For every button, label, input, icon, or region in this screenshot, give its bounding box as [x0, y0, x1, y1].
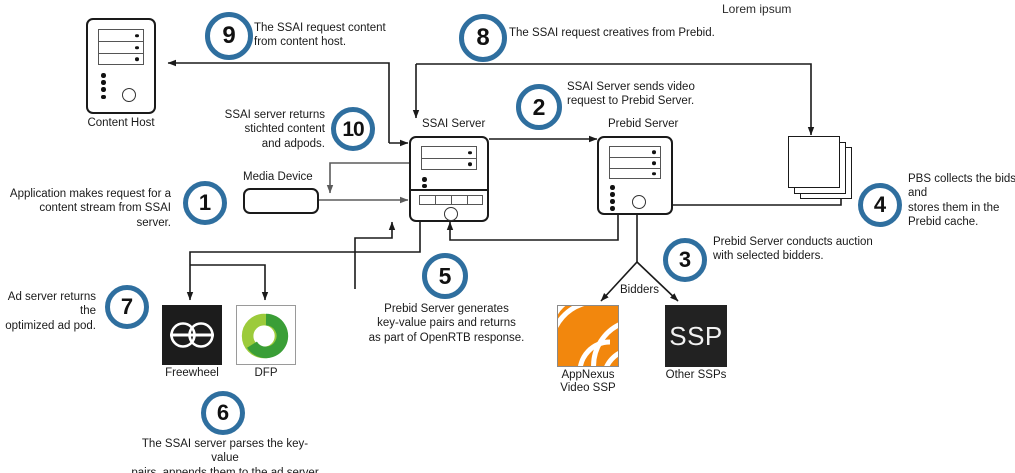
step-1-line2: content stream from SSAI server.	[5, 201, 171, 230]
diagram-canvas: Lorem ipsum Content Host SSAI Server	[0, 0, 1015, 473]
step-3-caption: Prebid Server conducts auction with sele…	[713, 235, 913, 264]
prebid-server-label: Prebid Server	[608, 118, 678, 132]
content-host-bays	[98, 29, 144, 65]
step-8-badge: 8	[459, 14, 507, 62]
bay	[98, 29, 144, 41]
bay	[421, 146, 477, 158]
step-7-line2: optimized ad pod.	[0, 319, 96, 333]
step-6-caption: The SSAI server parses the key-value pai…	[130, 437, 320, 473]
freewheel-label: Freewheel	[152, 367, 232, 381]
dfp-label: DFP	[231, 367, 301, 381]
other-ssps-logo: SSP	[665, 305, 727, 367]
status-leds	[422, 177, 427, 188]
power-button-icon	[122, 88, 136, 102]
step-7-caption: Ad server returns the optimized ad pod.	[0, 290, 96, 333]
step-3-badge: 3	[663, 238, 707, 282]
dfp-glyph-icon	[237, 306, 295, 364]
bay	[98, 53, 144, 65]
step-5-line3: as part of OpenRTB response.	[364, 331, 529, 345]
dfp-logo	[236, 305, 296, 365]
ssai-server	[409, 136, 489, 222]
step-10-caption: SSAI server returns stichted content and…	[192, 108, 325, 151]
step-4-line1: PBS collects the bids and	[908, 172, 1015, 201]
bay	[98, 41, 144, 53]
freewheel-glyph-icon	[162, 305, 222, 365]
step-9-caption: The SSAI request content from content ho…	[254, 21, 434, 50]
bay	[421, 158, 477, 170]
step-7-badge: 7	[105, 285, 149, 329]
power-button-icon	[632, 195, 646, 209]
step-3-line1: Prebid Server conducts auction	[713, 235, 913, 249]
ssai-bays	[421, 146, 477, 170]
lorem-note: Lorem ipsum	[722, 2, 791, 16]
step-9-badge: 9	[205, 12, 253, 60]
step-7-line1: Ad server returns the	[0, 290, 96, 319]
slot-bank	[419, 195, 483, 205]
appnexus-label-line1: AppNexus	[548, 369, 628, 383]
step-10-line1: SSAI server returns	[192, 108, 325, 122]
bay	[609, 157, 661, 168]
step-4-badge: 4	[858, 183, 902, 227]
appnexus-label-line2: Video SSP	[548, 382, 628, 396]
bidders-label: Bidders	[620, 284, 659, 296]
step-4-line3: Prebid cache.	[908, 215, 1015, 229]
prebid-bays	[609, 146, 661, 179]
step-9-line2: from content host.	[254, 35, 434, 49]
step-3-line2: with selected bidders.	[713, 249, 913, 263]
step-2-line1: SSAI Server sends video	[567, 80, 747, 94]
step-8-caption: The SSAI request creatives from Prebid.	[509, 26, 769, 40]
step-8-line1: The SSAI request creatives from Prebid.	[509, 26, 769, 40]
status-leds	[610, 185, 615, 211]
media-device-label: Media Device	[243, 171, 313, 185]
appnexus-glyph-icon	[558, 306, 619, 367]
step-10-line3: and adpods.	[192, 137, 325, 151]
other-ssps-label: Other SSPs	[656, 369, 736, 383]
step-5-caption: Prebid Server generates key-value pairs …	[364, 302, 529, 345]
step-9-line1: The SSAI request content	[254, 21, 434, 35]
step-1-line1: Application makes request for a	[5, 187, 171, 201]
step-10-line2: stichted content	[192, 122, 325, 136]
step-1-badge: 1	[183, 181, 227, 225]
step-6-line2: pairs, appends them to the ad server	[130, 466, 320, 473]
step-4-line2: stores them in the	[908, 201, 1015, 215]
step-2-badge: 2	[516, 84, 562, 130]
power-button-icon	[444, 207, 458, 221]
step-6-badge: 6	[201, 391, 245, 435]
prebid-server	[597, 136, 673, 215]
content-host-label: Content Host	[66, 117, 176, 131]
appnexus-logo	[557, 305, 619, 367]
cache-page-front	[788, 136, 840, 188]
content-host-server	[86, 18, 156, 114]
step-5-badge: 5	[422, 253, 468, 299]
status-leds	[101, 73, 106, 99]
divider	[411, 189, 487, 191]
freewheel-logo	[162, 305, 222, 365]
bay	[609, 146, 661, 157]
step-2-caption: SSAI Server sends video request to Prebi…	[567, 80, 747, 109]
step-6-line1: The SSAI server parses the key-value	[130, 437, 320, 466]
step-4-caption: PBS collects the bids and stores them in…	[908, 172, 1015, 230]
ssp-logo-text: SSP	[669, 321, 723, 352]
step-5-line2: key-value pairs and returns	[364, 316, 529, 330]
media-device	[243, 188, 319, 214]
step-10-badge: 10	[331, 107, 375, 151]
bay	[609, 168, 661, 179]
step-1-caption: Application makes request for a content …	[5, 187, 171, 230]
step-5-line1: Prebid Server generates	[364, 302, 529, 316]
step-2-line2: request to Prebid Server.	[567, 94, 747, 108]
ssai-server-label: SSAI Server	[422, 118, 485, 132]
